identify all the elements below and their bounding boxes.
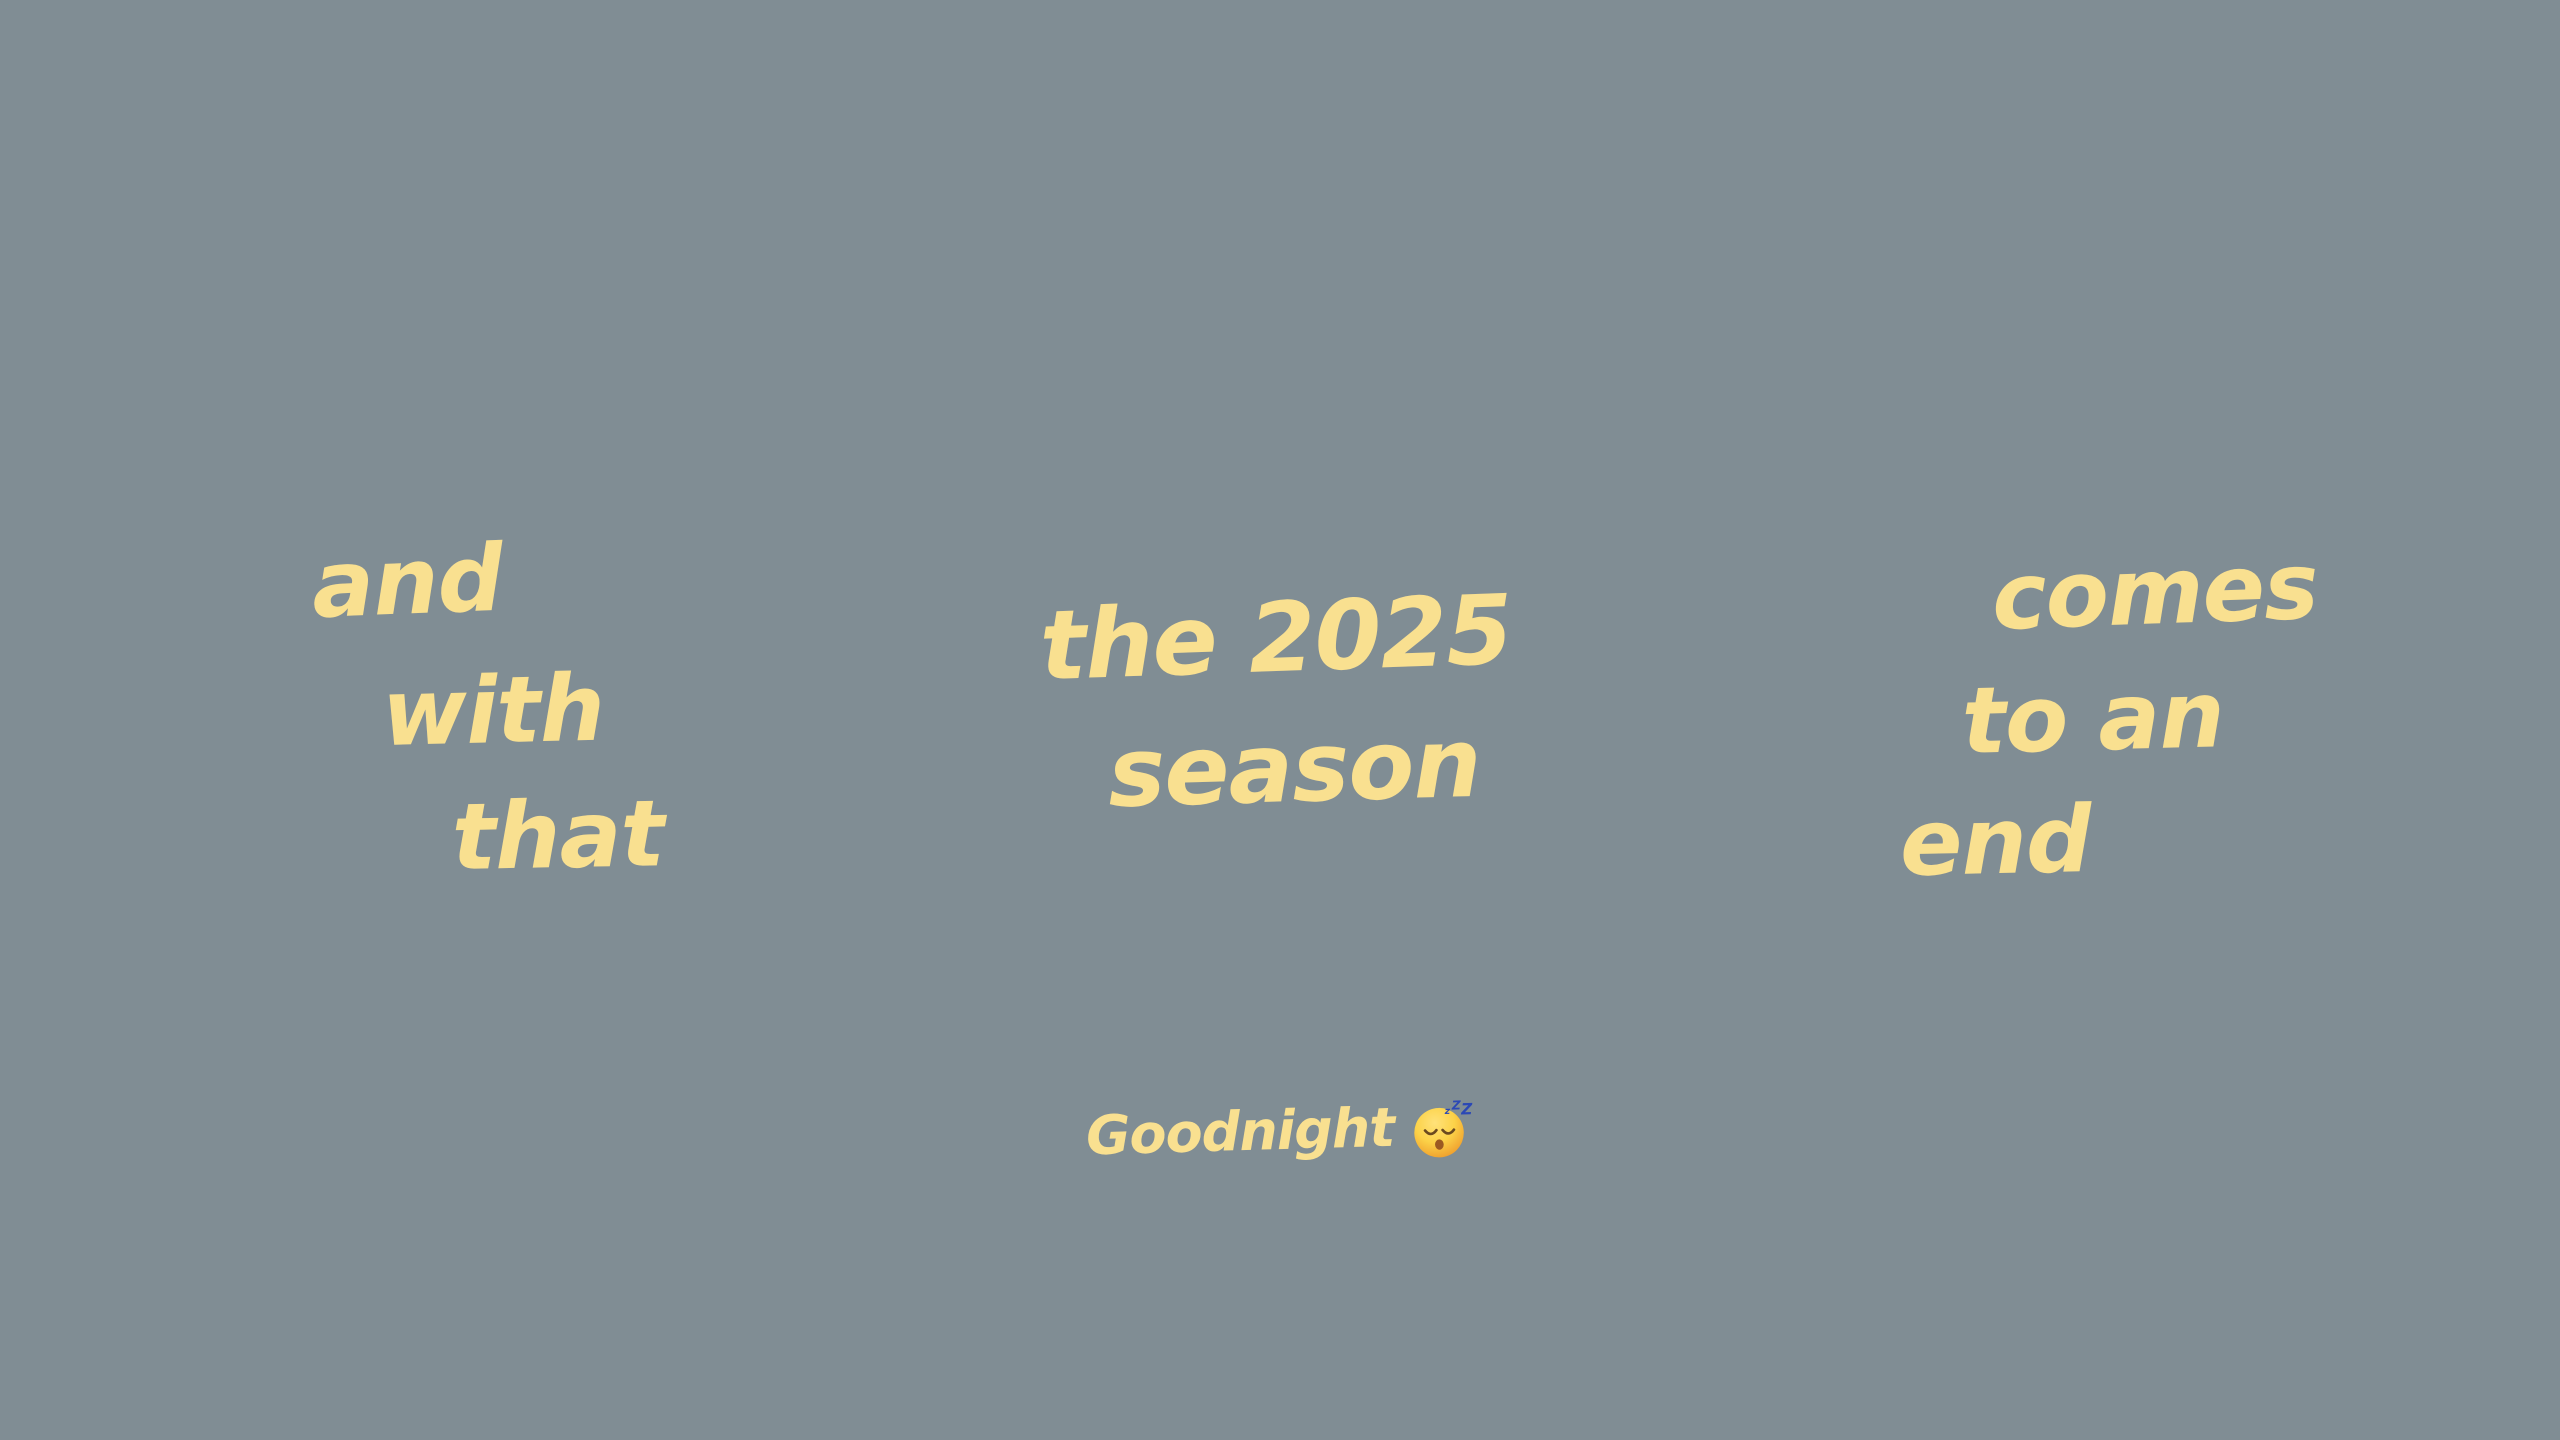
- svg-text:Z: Z: [1450, 1098, 1461, 1113]
- phrase-left-line-3: that: [451, 788, 664, 884]
- phrase-right-line-3: end: [1899, 794, 2092, 890]
- phrase-center-line-1: the 2025: [1038, 582, 1513, 694]
- phrase-right-line-1: comes: [1990, 541, 2319, 644]
- signoff-text: Goodnight: [1085, 1101, 1394, 1164]
- phrase-right-line-2: to an: [1961, 669, 2225, 768]
- signoff-row: Goodnight: [1085, 1093, 1475, 1170]
- slide-canvas: and with that the 2025 season comes to a…: [0, 0, 2560, 1440]
- phrase-left-line-1: and: [310, 533, 504, 632]
- sleeping-face-emoji: z Z Z: [1407, 1095, 1475, 1163]
- phrase-left-line-2: with: [381, 663, 605, 760]
- svg-text:Z: Z: [1460, 1100, 1474, 1119]
- phrase-center-line-2: season: [1107, 715, 1482, 821]
- signoff-block: Goodnight: [0, 1098, 2560, 1164]
